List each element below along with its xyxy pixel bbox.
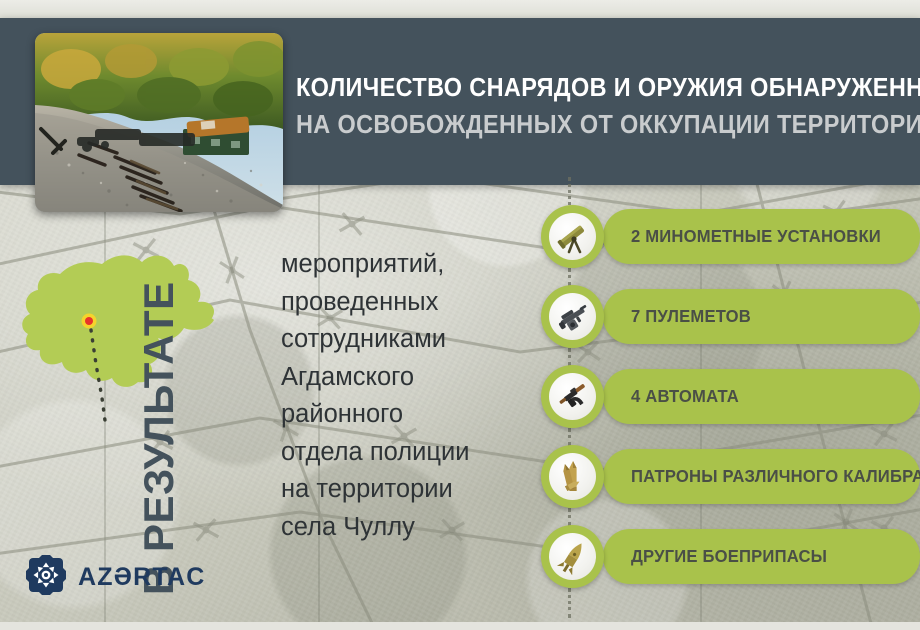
finding-label: 4 АВТОМАТА <box>631 386 739 407</box>
list-item[interactable]: 7 ПУЛЕМЕТОВ <box>533 285 920 348</box>
azertac-logo-text: AZƏRTAC <box>78 563 205 592</box>
infographic-canvas: КОЛИЧЕСТВО СНАРЯДОВ И ОРУЖИЯ ОБНАРУЖЕННЫ… <box>0 0 920 630</box>
azertac-logo[interactable]: AZƏRTAC <box>26 555 205 600</box>
title-line-1: КОЛИЧЕСТВО СНАРЯДОВ И ОРУЖИЯ ОБНАРУЖЕННЫ… <box>296 70 848 107</box>
finding-label: 2 МИНОМЕТНЫЕ УСТАНОВКИ <box>631 226 881 247</box>
list-item[interactable]: 2 МИНОМЕТНЫЕ УСТАНОВКИ <box>533 205 920 268</box>
body-line: отдела полиции <box>281 434 526 472</box>
machine-gun-icon <box>549 293 596 340</box>
vertical-headline: В РЕЗУЛЬТАТЕ <box>135 245 183 595</box>
cartridges-icon <box>549 453 596 500</box>
finding-icon-wrapper[interactable] <box>541 365 604 428</box>
finding-badge[interactable]: ПАТРОНЫ РАЗЛИЧНОГО КАЛИБРА <box>603 449 920 504</box>
finding-icon-wrapper[interactable] <box>541 525 604 588</box>
list-item[interactable]: ПАТРОНЫ РАЗЛИЧНОГО КАЛИБРА <box>533 445 920 508</box>
findings-list: 2 МИНОМЕТНЫЕ УСТАНОВКИ <box>533 205 920 603</box>
azerbaijan-map <box>18 238 223 423</box>
finding-label: 7 ПУЛЕМЕТОВ <box>631 306 751 327</box>
body-line: проведенных <box>281 284 526 322</box>
connector-line <box>568 588 571 618</box>
connector-line <box>568 508 571 526</box>
finding-badge[interactable]: 7 ПУЛЕМЕТОВ <box>603 289 920 344</box>
bottom-edge-strip <box>0 622 920 630</box>
connector-line <box>568 428 571 446</box>
finding-badge[interactable]: 4 АВТОМАТА <box>603 369 920 424</box>
body-line: на территории <box>281 471 526 509</box>
title-line-2: НА ОСВОБОЖДЕННЫХ ОТ ОККУПАЦИИ ТЕРРИТОРИЯ… <box>296 107 848 144</box>
finding-icon-wrapper[interactable] <box>541 285 604 348</box>
rocket-icon <box>549 533 596 580</box>
finding-label: ПАТРОНЫ РАЗЛИЧНОГО КАЛИБРА <box>631 466 920 487</box>
body-copy: мероприятий, проведенных сотрудниками Аг… <box>281 246 526 546</box>
connector-line <box>568 268 571 286</box>
assault-rifle-icon <box>549 373 596 420</box>
finding-icon-wrapper[interactable] <box>541 205 604 268</box>
body-line: сотрудниками <box>281 321 526 359</box>
top-edge-strip <box>0 0 920 18</box>
finding-badge[interactable]: 2 МИНОМЕТНЫЕ УСТАНОВКИ <box>603 209 920 264</box>
body-line: села Чуллу <box>281 509 526 547</box>
weapons-seizure-photo <box>35 33 283 212</box>
page-title: КОЛИЧЕСТВО СНАРЯДОВ И ОРУЖИЯ ОБНАРУЖЕННЫ… <box>296 70 896 144</box>
finding-badge[interactable]: ДРУГИЕ БОЕПРИПАСЫ <box>603 529 920 584</box>
connector-line <box>568 348 571 366</box>
list-item[interactable]: 4 АВТОМАТА <box>533 365 920 428</box>
mortar-launcher-icon <box>549 213 596 260</box>
finding-label: ДРУГИЕ БОЕПРИПАСЫ <box>631 546 827 567</box>
finding-icon-wrapper[interactable] <box>541 445 604 508</box>
body-line: районного <box>281 396 526 434</box>
list-item[interactable]: ДРУГИЕ БОЕПРИПАСЫ <box>533 525 920 588</box>
eight-point-star-emblem <box>26 555 66 600</box>
body-line: Агдамского <box>281 359 526 397</box>
body-line: мероприятий, <box>281 246 526 284</box>
